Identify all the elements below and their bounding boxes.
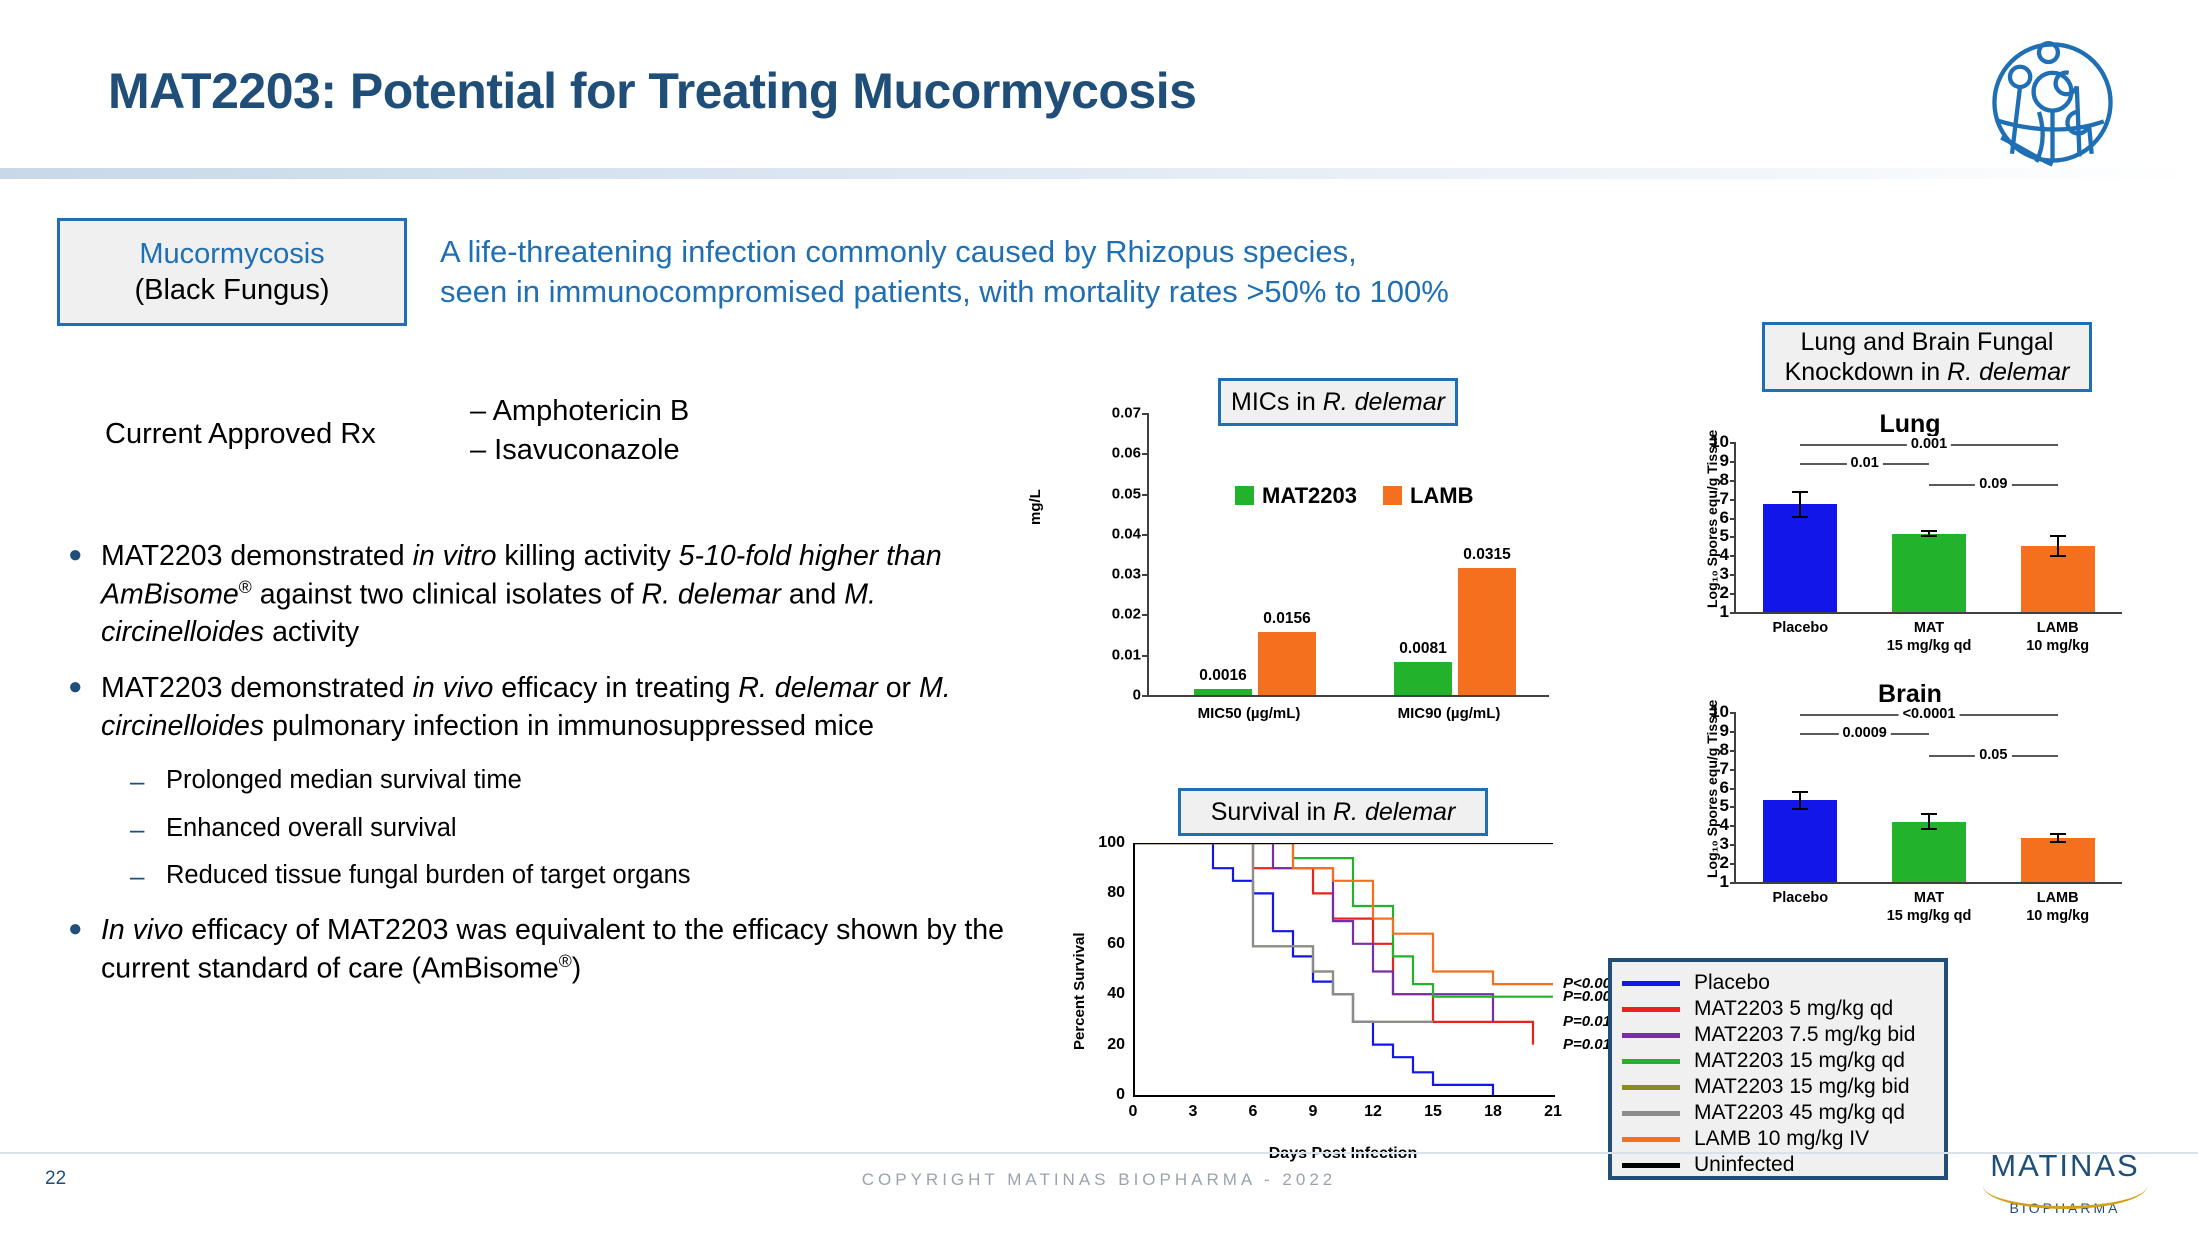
survival-x-tick-label: 15 [1424,1103,1442,1121]
legend-item: MAT2203 45 mg/kg qd [1622,1100,1944,1126]
lung-y-tick-mark [1730,499,1736,501]
legend-item-label: MAT2203 5 mg/kg qd [1694,997,1893,1021]
sub-bullet-text: Prolonged median survival time [166,764,522,799]
intro-line-2: seen in immunocompromised patients, with… [440,272,1780,312]
page-title: MAT2203: Potential for Treating Mucormyc… [108,62,1196,120]
lung-y-tick-mark [1730,555,1736,557]
legend-item: MAT2203 7.5 mg/kg bid [1622,1022,1944,1048]
rx-item: – Amphotericin B [470,392,689,431]
brain-error-bar [1928,813,1930,830]
survival-x-tick-label: 3 [1189,1103,1198,1121]
brain-error-bar [1799,791,1801,810]
mic-y-tick-mark [1142,494,1149,496]
survival-x-tick-label: 9 [1309,1103,1318,1121]
mic-y-tick-mark [1142,655,1149,657]
lung-y-tick-label: 3 [1720,564,1729,584]
survival-x-axis-label: Days Post Infection [1133,1145,1553,1163]
lung-bar-chart: Lung 12345678910PlaceboMAT15 mg/kg qdLAM… [1690,410,2130,670]
brain-category-label: MAT15 mg/kg qd [1887,889,1972,925]
mic-bar-value-label: 0.0156 [1263,610,1310,628]
mic-y-tick-label: 0.05 [1112,485,1141,502]
sub-bullet-text: Reduced tissue fungal burden of target o… [166,859,691,894]
legend-line-swatch-icon [1622,1085,1680,1090]
tissue-chart-title-box: Lung and Brain FungalKnockdown in R. del… [1762,322,2092,392]
mic-bar-chart: mg/L 00.010.020.030.040.050.060.070.0016… [1085,405,1555,745]
mic-y-tick-label: 0.01 [1112,646,1141,663]
brain-error-bar [2057,833,2059,842]
sub-bullet-item: – Prolonged median survival time [130,764,1028,799]
lung-y-tick-mark [1730,442,1736,444]
legend-item-label: MAT2203 45 mg/kg qd [1694,1101,1905,1125]
lung-axis-segment [1999,612,2116,614]
lung-chart-heading: Lung [1690,410,2130,439]
brain-axis-segment [1999,882,2116,884]
legend-swatch-icon [1383,486,1402,505]
bullet-item-invitro: ● MAT2203 demonstrated in vitro killing … [68,538,1028,652]
legend-item-label: LAMB 10 mg/kg IV [1694,1127,1869,1151]
brain-bar-chart: Brain 12345678910PlaceboMAT15 mg/kg qdLA… [1690,680,2130,940]
brain-y-tick-label: 1 [1720,872,1729,892]
legend-item: LAMB 10 mg/kg IV [1622,1126,1944,1152]
brain-y-tick-label: 6 [1720,778,1729,798]
lung-y-axis-label: Log₁₀ Spores equ/g Tissue [1704,430,1720,608]
mic-bar-value-label: 0.0016 [1199,667,1246,685]
brain-y-tick-mark [1730,806,1736,808]
lung-bar [1892,534,1966,612]
mic-bar-value-label: 0.0081 [1399,640,1446,658]
survival-x-tick-label: 12 [1364,1103,1382,1121]
bullet-item-equivalence: ● In vivo efficacy of MAT2203 was equiva… [68,912,1028,988]
legend-entry-lamb: LAMB [1383,483,1474,509]
survival-y-tick-label: 100 [1098,834,1125,852]
brain-y-tick-mark [1730,863,1736,865]
lung-y-tick-label: 4 [1720,545,1729,565]
brain-axis-segment [1871,882,1988,884]
survival-curve [1133,843,1553,984]
legend-line-swatch-icon [1622,981,1680,986]
current-approved-rx-label: Current Approved Rx [105,418,376,451]
mic-y-tick-mark [1142,534,1149,536]
survival-plot-area: 020406080100036912151821P<0.0001P=0.0001… [1133,843,1553,1095]
lung-y-tick-mark [1730,536,1736,538]
brain-y-tick-label: 8 [1720,740,1729,760]
mic-y-tick-mark [1142,574,1149,576]
lung-y-tick-label: 1 [1720,602,1729,622]
mic-y-tick-mark [1142,453,1149,455]
survival-y-tick-label: 0 [1116,1086,1125,1104]
mic-legend: MAT2203 LAMB [1235,483,1474,509]
brain-y-tick-label: 9 [1720,721,1729,741]
survival-y-tick-label: 80 [1107,884,1125,902]
legend-line-swatch-icon [1622,1137,1680,1142]
lung-y-tick-label: 6 [1720,508,1729,528]
lung-y-tick-mark [1730,593,1736,595]
survival-curves [1133,843,1553,1095]
legend-item-label: Placebo [1694,971,1770,995]
mic-y-tick-label: 0.03 [1112,566,1141,583]
lung-y-tick-mark [1730,612,1736,614]
brand-name: MATINAS [1965,1148,2165,1184]
brain-y-tick-mark [1730,825,1736,827]
mic-plot-area: 00.010.020.030.040.050.060.070.00160.015… [1147,413,1549,697]
copyright-notice: COPYRIGHT MATINAS BIOPHARMA - 2022 [0,1170,2198,1190]
survival-x-tick-label: 21 [1544,1103,1562,1121]
lung-y-tick-mark [1730,480,1736,482]
brain-y-tick-label: 5 [1720,796,1729,816]
legend-entry-mat2203: MAT2203 [1235,483,1357,509]
mic-bar-value-label: 0.0315 [1463,546,1510,564]
brain-bar [1763,800,1837,882]
brain-bar [1892,822,1966,882]
lung-y-tick-label: 7 [1720,489,1729,509]
survival-y-axis-label: Percent Survival [1071,932,1088,1050]
survival-line-chart: Percent Survival 02040608010003691215182… [1075,835,1610,1180]
legend-line-swatch-icon [1622,1163,1680,1168]
bullet-text: MAT2203 demonstrated in vitro killing ac… [101,538,1028,652]
mic-y-tick-label: 0 [1133,687,1141,704]
lung-y-tick-label: 8 [1720,470,1729,490]
term-label-primary: Mucormycosis [139,236,324,272]
legend-item: MAT2203 15 mg/kg bid [1622,1074,1944,1100]
lung-y-tick-label: 2 [1720,583,1729,603]
legend-item: MAT2203 5 mg/kg qd [1622,996,1944,1022]
matinas-molecule-logo-icon [1985,35,2120,170]
dash-icon: – [130,859,166,894]
brain-pvalue-label: <0.0001 [1899,706,1960,722]
brain-axis-segment [1742,882,1859,884]
brain-y-tick-mark [1730,731,1736,733]
survival-chart-title-box: Survival in R. delemar [1178,788,1488,836]
current-approved-rx-list: – Amphotericin B – Isavuconazole [470,392,689,470]
intro-line-1: A life-threatening infection commonly ca… [440,232,1780,272]
key-points-list: ● MAT2203 demonstrated in vitro killing … [68,538,1028,1006]
survival-x-tick-label: 0 [1129,1103,1138,1121]
lung-error-bar [1799,491,1801,517]
lung-plot-area: 12345678910PlaceboMAT15 mg/kg qdLAMB10 m… [1734,442,2122,614]
mic-y-tick-label: 0.02 [1112,606,1141,623]
mic-y-tick-mark [1142,695,1149,697]
brain-y-tick-mark [1730,712,1736,714]
mic-y-axis-label: mg/L [1027,489,1044,525]
legend-line-swatch-icon [1622,1033,1680,1038]
survival-y-tick-label: 20 [1107,1036,1125,1054]
bullet-dot-icon: ● [68,670,101,746]
lung-pvalue-label: 0.001 [1907,436,1951,452]
lung-y-tick-label: 5 [1720,526,1729,546]
brain-y-tick-label: 3 [1720,834,1729,854]
legend-item-label: MAT2203 7.5 mg/kg bid [1694,1023,1915,1047]
brain-y-tick-label: 7 [1720,759,1729,779]
brain-category-label: LAMB10 mg/kg [2026,889,2089,925]
rx-item: – Isavuconazole [470,431,689,470]
legend-item-label: MAT2203 15 mg/kg bid [1694,1075,1910,1099]
sub-bullet-text: Enhanced overall survival [166,812,457,847]
mic-y-tick-mark [1142,614,1149,616]
mic-bar: 0.0016 [1194,689,1252,695]
matinas-biopharma-wordmark: MATINAS BIOPHARMA [1965,1148,2165,1216]
brain-category-label: Placebo [1773,889,1829,907]
lung-error-bar [2057,535,2059,558]
legend-swatch-icon [1235,486,1254,505]
mic-y-tick-label: 0.06 [1112,445,1141,462]
survival-curve [1133,843,1433,1022]
survival-y-tick-label: 40 [1107,985,1125,1003]
lung-y-tick-mark [1730,518,1736,520]
bullet-text: MAT2203 demonstrated in vivo efficacy in… [101,670,1028,746]
lung-category-label: MAT15 mg/kg qd [1887,619,1972,655]
brain-pvalue-label: 0.05 [1975,747,2011,763]
brain-y-tick-label: 2 [1720,853,1729,873]
lung-axis-segment [1871,612,1988,614]
brain-y-tick-mark [1730,750,1736,752]
brain-bar [2021,838,2095,882]
lung-category-label: LAMB10 mg/kg [2026,619,2089,655]
survival-x-tick-label: 6 [1249,1103,1258,1121]
brain-chart-heading: Brain [1690,680,2130,709]
legend-line-swatch-icon [1622,1059,1680,1064]
survival-legend-box: PlaceboMAT2203 5 mg/kg qdMAT2203 7.5 mg/… [1608,958,1948,1180]
brain-pvalue-label: 0.0009 [1838,725,1890,741]
legend-line-swatch-icon [1622,1111,1680,1116]
brain-y-tick-mark [1730,882,1736,884]
mic-y-tick-mark [1142,413,1149,415]
legend-item: Placebo [1622,970,1944,996]
lung-bar [1763,504,1837,612]
lung-y-tick-mark [1730,574,1736,576]
sub-bullet-item: – Reduced tissue fungal burden of target… [130,859,1028,894]
survival-curve [1133,843,1553,997]
header-divider [0,168,2198,179]
lung-error-bar [1928,530,1930,538]
mic-category-label: MIC50 (µg/mL) [1198,705,1301,722]
bullet-dot-icon: ● [68,538,101,652]
mic-bar: 0.0156 [1258,632,1316,695]
brain-y-tick-mark [1730,788,1736,790]
sub-bullet-item: – Enhanced overall survival [130,812,1028,847]
mic-bar: 0.0081 [1394,662,1452,695]
brain-plot-area: 12345678910PlaceboMAT15 mg/kg qdLAMB10 m… [1734,712,2122,884]
mic-y-tick-label: 0.07 [1112,405,1141,422]
bullet-dot-icon: ● [68,912,101,988]
lung-pvalue-label: 0.01 [1847,455,1883,471]
legend-line-swatch-icon [1622,1007,1680,1012]
mic-bar: 0.0315 [1458,568,1516,695]
brain-y-axis-label: Log₁₀ Spores equ/g Tissue [1704,700,1720,878]
brain-y-tick-mark [1730,769,1736,771]
footer-divider [0,1152,2198,1154]
brain-y-tick-label: 4 [1720,815,1729,835]
lung-pvalue-label: 0.09 [1975,476,2011,492]
legend-item: MAT2203 15 mg/kg qd [1622,1048,1944,1074]
survival-chart-title: Survival in R. delemar [1211,797,1456,827]
lung-axis-segment [1742,612,1859,614]
lung-y-tick-label: 9 [1720,451,1729,471]
survival-x-tick-label: 18 [1484,1103,1502,1121]
mucormycosis-term-box: Mucormycosis (Black Fungus) [57,218,407,326]
dash-icon: – [130,764,166,799]
dash-icon: – [130,812,166,847]
survival-curve [1133,843,1433,1022]
tissue-chart-title: Lung and Brain FungalKnockdown in R. del… [1785,327,2070,387]
bullet-item-invivo: ● MAT2203 demonstrated in vivo efficacy … [68,670,1028,746]
term-label-secondary: (Black Fungus) [134,272,329,308]
bullet-text: In vivo efficacy of MAT2203 was equivale… [101,912,1028,988]
mic-category-label: MIC90 (µg/mL) [1398,705,1501,722]
survival-y-tick-label: 60 [1107,935,1125,953]
legend-item-label: MAT2203 15 mg/kg qd [1694,1049,1905,1073]
lung-category-label: Placebo [1773,619,1829,637]
intro-description: A life-threatening infection commonly ca… [440,232,1780,311]
mic-y-tick-label: 0.04 [1112,525,1141,542]
lung-y-tick-mark [1730,461,1736,463]
brain-y-tick-mark [1730,844,1736,846]
